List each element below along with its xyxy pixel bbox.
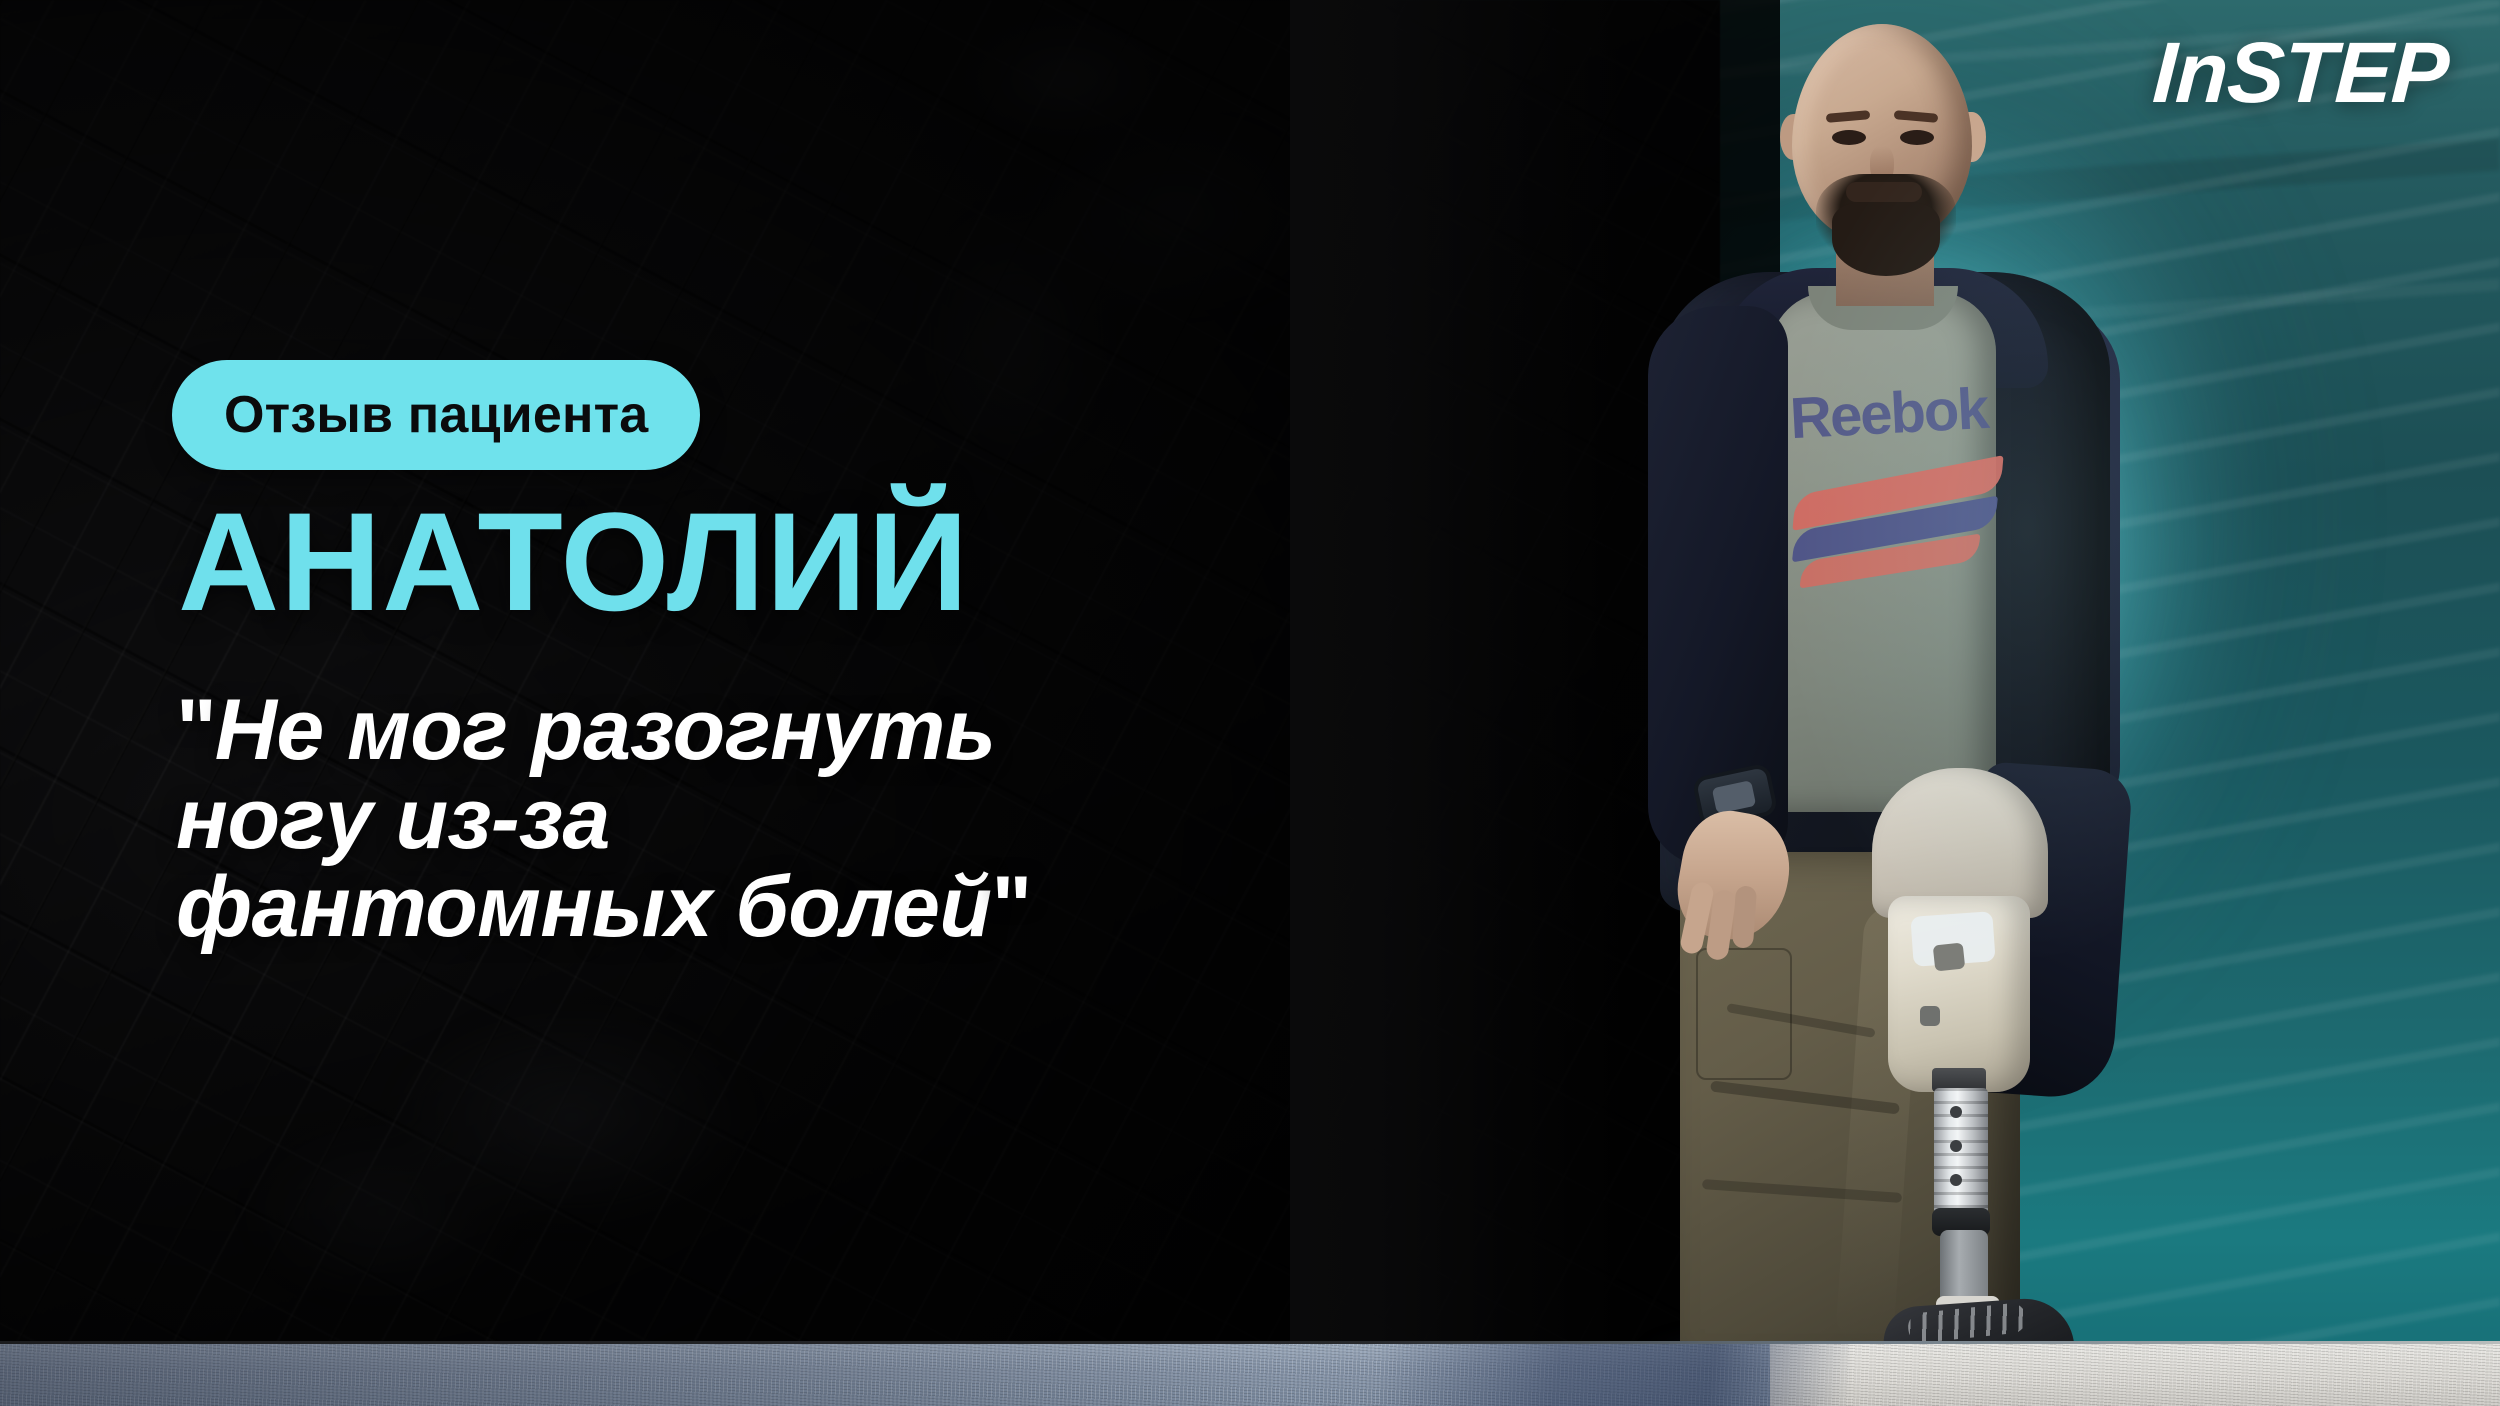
patient-review-badge[interactable]: Отзыв пациента bbox=[172, 360, 700, 470]
prosthesis-pylon-rings bbox=[1934, 1088, 1988, 1216]
subject-eye-left bbox=[1832, 130, 1866, 145]
subject-beard-chin bbox=[1832, 202, 1940, 276]
prosthesis-screw-3 bbox=[1950, 1174, 1962, 1186]
quote-open-mark: " bbox=[176, 682, 215, 778]
background-seam-gradient bbox=[1290, 0, 1620, 1406]
subject-photo-cutout: Reebok bbox=[1640, 6, 2300, 1374]
patient-quote: "Не мог разогнуть ногу из-за фантомных б… bbox=[176, 686, 1326, 952]
poster-canvas: Reebok bbox=[0, 0, 2500, 1406]
quote-line-3-text: фантомных болей bbox=[176, 859, 991, 955]
prosthesis-screw-2 bbox=[1950, 1140, 1962, 1152]
instep-logo-text: InSTEP bbox=[2151, 30, 2451, 116]
subject-finger-3 bbox=[1732, 885, 1757, 948]
shirt-brand-text: Reebok bbox=[1788, 377, 1991, 451]
prosthesis-bolt-upper bbox=[1933, 943, 1966, 972]
quote-line-2: ногу из-за bbox=[176, 775, 1326, 864]
quote-line-3: фантомных болей" bbox=[176, 863, 1326, 952]
quote-close-mark: " bbox=[991, 859, 1030, 955]
prosthesis-screw-1 bbox=[1950, 1106, 1962, 1118]
subject-eye-right bbox=[1900, 130, 1934, 145]
subject-mustache bbox=[1846, 182, 1922, 202]
patient-name: АНАТОЛИЙ bbox=[178, 492, 969, 632]
concrete-step-shade-left bbox=[0, 1344, 1300, 1406]
prosthesis-bolt-lower bbox=[1920, 1006, 1940, 1026]
quote-line-1-text: Не мог разогнуть bbox=[215, 682, 996, 778]
concrete-step-shadow bbox=[1380, 1344, 1850, 1406]
instep-logo[interactable]: InSTEP bbox=[2153, 30, 2448, 116]
quote-line-1: "Не мог разогнуть bbox=[176, 686, 1326, 775]
quote-line-2-text: ногу из-за bbox=[176, 771, 610, 867]
badge-label: Отзыв пациента bbox=[224, 389, 648, 441]
